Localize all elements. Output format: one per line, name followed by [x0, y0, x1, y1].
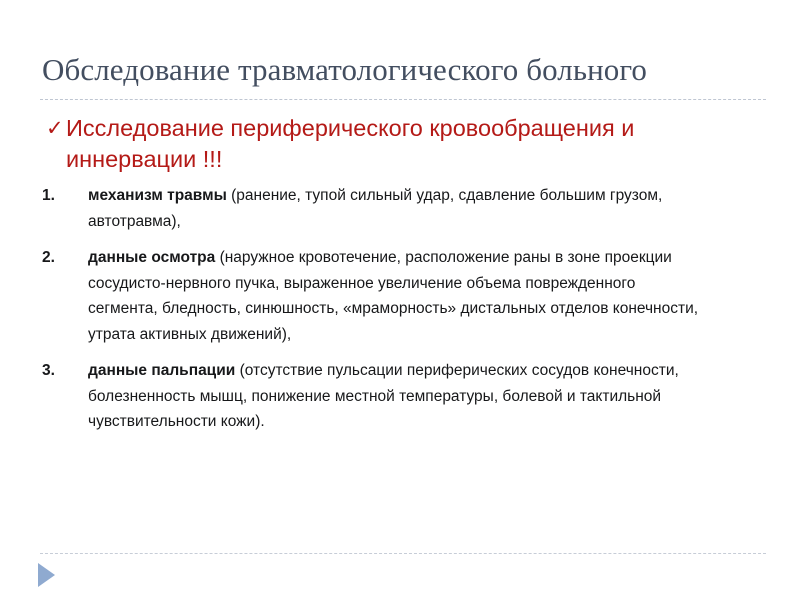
next-slide-arrow-icon[interactable] — [38, 563, 55, 587]
list-item: 2. данные осмотра (наружное кровотечение… — [42, 245, 722, 347]
list-item-marker: 2. — [42, 245, 88, 271]
page-title: Обследование травматологического больног… — [42, 50, 766, 90]
list-item: 3. данные пальпации (отсутствие пульсаци… — [42, 358, 722, 435]
list-item-text: данные осмотра (наружное кровотечение, р… — [88, 245, 706, 347]
list-item: 1. механизм травмы (ранение, тупой сильн… — [42, 183, 722, 234]
numbered-list: 1. механизм травмы (ранение, тупой сильн… — [42, 183, 722, 435]
list-item-text: механизм травмы (ранение, тупой сильный … — [88, 183, 706, 234]
heading-bullet-text: Исследование периферического кровообраще… — [66, 113, 716, 175]
footer-divider — [40, 553, 766, 554]
presentation-slide: Обследование травматологического больног… — [0, 0, 800, 600]
list-item-marker: 3. — [42, 358, 88, 384]
list-item-lead: данные осмотра — [88, 249, 220, 266]
list-item-text: данные пальпации (отсутствие пульсации п… — [88, 358, 706, 435]
list-item-lead: данные пальпации — [88, 362, 240, 379]
list-item-marker: 1. — [42, 183, 88, 209]
list-item-lead: механизм травмы — [88, 187, 231, 204]
check-mark-icon: ✓ — [46, 113, 66, 144]
heading-bullet: ✓ Исследование периферического кровообра… — [46, 113, 726, 175]
title-divider — [40, 99, 766, 100]
